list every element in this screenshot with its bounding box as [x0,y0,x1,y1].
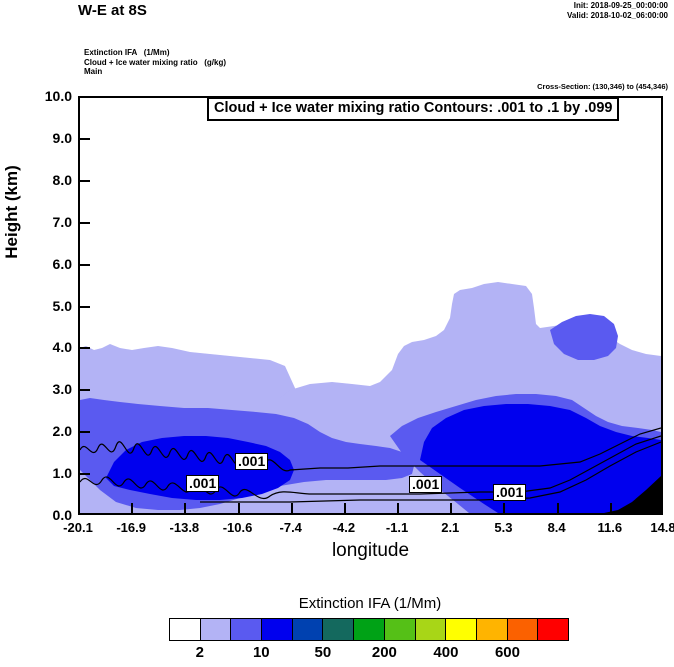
contour-fill-svg [80,98,661,513]
variable-description: Extinction IFA (1/Mm) Cloud + Ice water … [84,48,226,77]
colorbar-tick-label: 50 [293,645,353,661]
colorbar-swatch [416,619,447,640]
contour-label: .001 [235,453,268,470]
x-tick-label: 11.6 [580,521,640,535]
y-tick-mark [80,180,90,182]
x-tick-mark [503,503,505,513]
y-tick-label: 9.0 [0,131,72,145]
y-tick-label: 4.0 [0,340,72,354]
x-tick-label: -10.6 [208,521,268,535]
colorbar-swatch [446,619,477,640]
x-tick-label: 8.4 [527,521,587,535]
colorbar-swatch [354,619,385,640]
y-tick-mark [80,389,90,391]
x-tick-mark [557,503,559,513]
x-tick-mark [344,503,346,513]
cross-section-coords: Cross-Section: (130,346) to (454,346) [537,82,668,91]
colorbar-swatch [170,619,201,640]
colorbar-title: Extinction IFA (1/Mm) [170,595,570,612]
y-tick-mark [80,138,90,140]
x-tick-label: 2.1 [420,521,480,535]
colorbar-swatch [385,619,416,640]
colorbar-swatch [477,619,508,640]
x-tick-label: -1.1 [367,521,427,535]
colorbar-tick-label: 200 [354,645,414,661]
x-tick-mark [610,503,612,513]
x-tick-mark [450,503,452,513]
x-tick-mark [291,503,293,513]
y-tick-label: 10.0 [0,89,72,103]
colorbar-tick-label: 2 [170,645,230,661]
colorbar-swatch [508,619,539,640]
x-tick-label: -13.8 [154,521,214,535]
y-tick-label: 7.0 [0,215,72,229]
contour-banner: Cloud + Ice water mixing ratio Contours:… [207,97,619,121]
y-axis-ticks: 0.01.02.03.04.05.06.07.08.09.010.0 [0,0,72,667]
colorbar-tick-label: 400 [416,645,476,661]
colorbar-tick-label: 10 [231,645,291,661]
x-tick-mark [131,503,133,513]
valid-time: Valid: 2018-10-02_06:00:00 [567,11,668,21]
y-tick-mark [80,347,90,349]
y-tick-mark [80,431,90,433]
contour-label: .001 [409,476,442,493]
x-tick-mark [184,503,186,513]
colorbar [169,618,569,641]
page-title: W-E at 8S [78,2,147,19]
init-time: Init: 2018-09-25_00:00:00 [567,1,668,11]
contour-label: .001 [186,475,219,492]
y-tick-label: 1.0 [0,466,72,480]
x-tick-label: -20.1 [48,521,108,535]
y-tick-mark [80,473,90,475]
contour-label: .001 [493,484,526,501]
y-tick-mark [80,222,90,224]
y-tick-mark [80,306,90,308]
run-time-block: Init: 2018-09-25_00:00:00 Valid: 2018-10… [567,1,668,20]
colorbar-swatch [323,619,354,640]
x-tick-mark [238,503,240,513]
y-tick-label: 0.0 [0,508,72,522]
y-tick-label: 8.0 [0,173,72,187]
cross-section-plot [78,96,663,515]
x-tick-label: -4.2 [314,521,374,535]
colorbar-tick-label: 600 [477,645,537,661]
x-tick-label: 14.8 [633,521,674,535]
x-tick-label: 5.3 [473,521,533,535]
y-tick-label: 6.0 [0,257,72,271]
x-tick-mark [397,503,399,513]
colorbar-swatch [201,619,232,640]
y-tick-label: 5.0 [0,299,72,313]
x-tick-label: -7.4 [261,521,321,535]
x-axis-title: longitude [78,540,663,562]
colorbar-swatch [293,619,324,640]
colorbar-swatch [538,619,568,640]
colorbar-swatch [231,619,262,640]
x-tick-label: -16.9 [101,521,161,535]
y-tick-mark [80,264,90,266]
colorbar-swatch [262,619,293,640]
y-tick-label: 3.0 [0,382,72,396]
y-tick-label: 2.0 [0,424,72,438]
